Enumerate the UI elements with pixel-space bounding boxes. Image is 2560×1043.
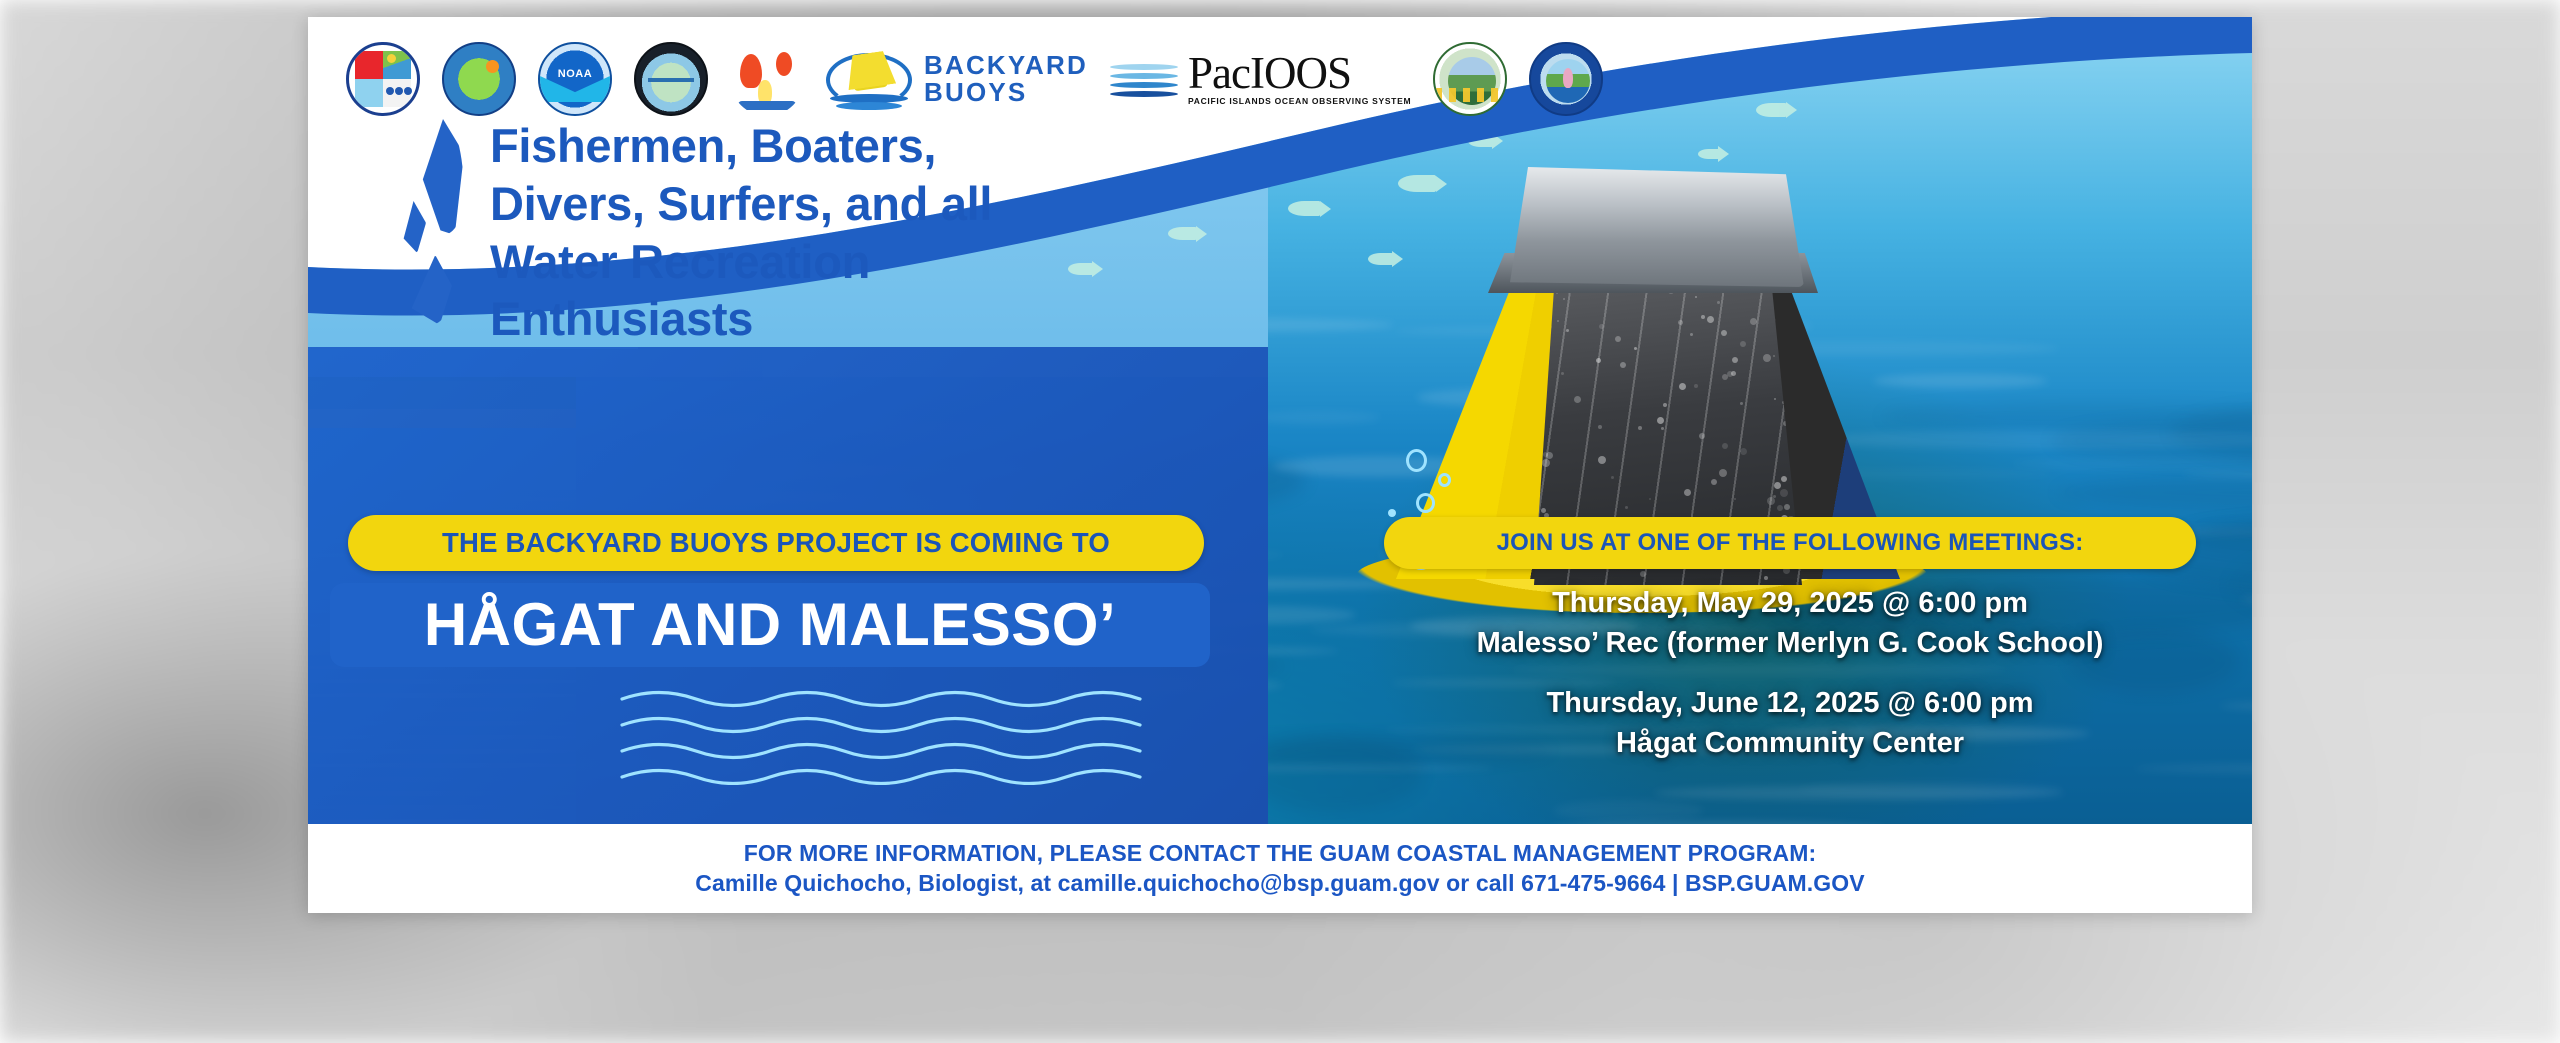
- page-title: Fishermen, Boaters, Divers, Surfers, and…: [490, 117, 992, 348]
- headline-line-4: Enthusiasts: [490, 290, 992, 348]
- backyard-buoys-line1: BACKYARD: [924, 52, 1088, 79]
- pacioos-logo: PacIOOS PACIFIC ISLANDS OCEAN OBSERVING …: [1110, 52, 1411, 107]
- location-title-block: HÅGAT AND MALESSO’: [330, 583, 1210, 667]
- contact-footer-line2: Camille Quichocho, Biologist, at camille…: [695, 872, 1864, 895]
- bureau-of-statistics-and-plans-seal: [346, 42, 420, 116]
- water-droplets-icon: [398, 117, 468, 307]
- meeting-item: Thursday, May 29, 2025 @ 6:00 pm Malesso…: [1330, 583, 2250, 663]
- poster-artwork: NOAA BACKYARD BUOYS: [308, 17, 2252, 824]
- pacioos-wordmark: PacIOOS: [1188, 52, 1411, 95]
- headline-block: Fishermen, Boaters, Divers, Surfers, and…: [398, 117, 992, 348]
- meetings-list: Thursday, May 29, 2025 @ 6:00 pm Malesso…: [1330, 583, 2250, 783]
- meeting-item: Thursday, June 12, 2025 @ 6:00 pm Hågat …: [1330, 683, 2250, 763]
- noaa-seal: NOAA: [538, 42, 612, 116]
- location-title: HÅGAT AND MALESSO’: [424, 595, 1116, 655]
- meetings-announcement-badge: JOIN US AT ONE OF THE FOLLOWING MEETINGS…: [1384, 517, 2196, 569]
- meeting-venue: Malesso’ Rec (former Merlyn G. Cook Scho…: [1330, 623, 2250, 663]
- meeting-venue: Hågat Community Center: [1330, 723, 2250, 763]
- contact-footer-line1: FOR MORE INFORMATION, PLEASE CONTACT THE…: [744, 842, 1817, 865]
- guam-dawr-seal: [442, 42, 516, 116]
- headline-line-2: Divers, Surfers, and all: [490, 175, 992, 233]
- noaa-seal-text: NOAA: [540, 68, 610, 80]
- university-seal: [634, 42, 708, 116]
- wavy-lines-decoration: [618, 685, 1218, 785]
- pacioos-subtitle: PACIFIC ISLANDS OCEAN OBSERVING SYSTEM: [1188, 96, 1411, 106]
- pacioos-waves-icon: [1110, 60, 1178, 106]
- coral-reef-seal: [730, 42, 804, 116]
- malesso-seal: [1529, 42, 1603, 116]
- meeting-datetime: Thursday, June 12, 2025 @ 6:00 pm: [1330, 683, 2250, 723]
- meeting-datetime: Thursday, May 29, 2025 @ 6:00 pm: [1330, 583, 2250, 623]
- district-of-hagat-seal: [1433, 42, 1507, 116]
- partner-logos-row: NOAA BACKYARD BUOYS: [346, 39, 1603, 119]
- backyard-buoys-mark-icon: [826, 47, 912, 111]
- contact-footer: FOR MORE INFORMATION, PLEASE CONTACT THE…: [308, 824, 2252, 913]
- backyard-buoys-line2: BUOYS: [924, 79, 1088, 106]
- backyard-buoys-logo: BACKYARD BUOYS: [826, 47, 1088, 111]
- headline-line-1: Fishermen, Boaters,: [490, 117, 992, 175]
- headline-line-3: Water Recreation: [490, 233, 992, 291]
- project-announcement-badge: THE BACKYARD BUOYS PROJECT IS COMING TO: [348, 515, 1204, 571]
- event-flyer-poster: NOAA BACKYARD BUOYS: [308, 17, 2252, 913]
